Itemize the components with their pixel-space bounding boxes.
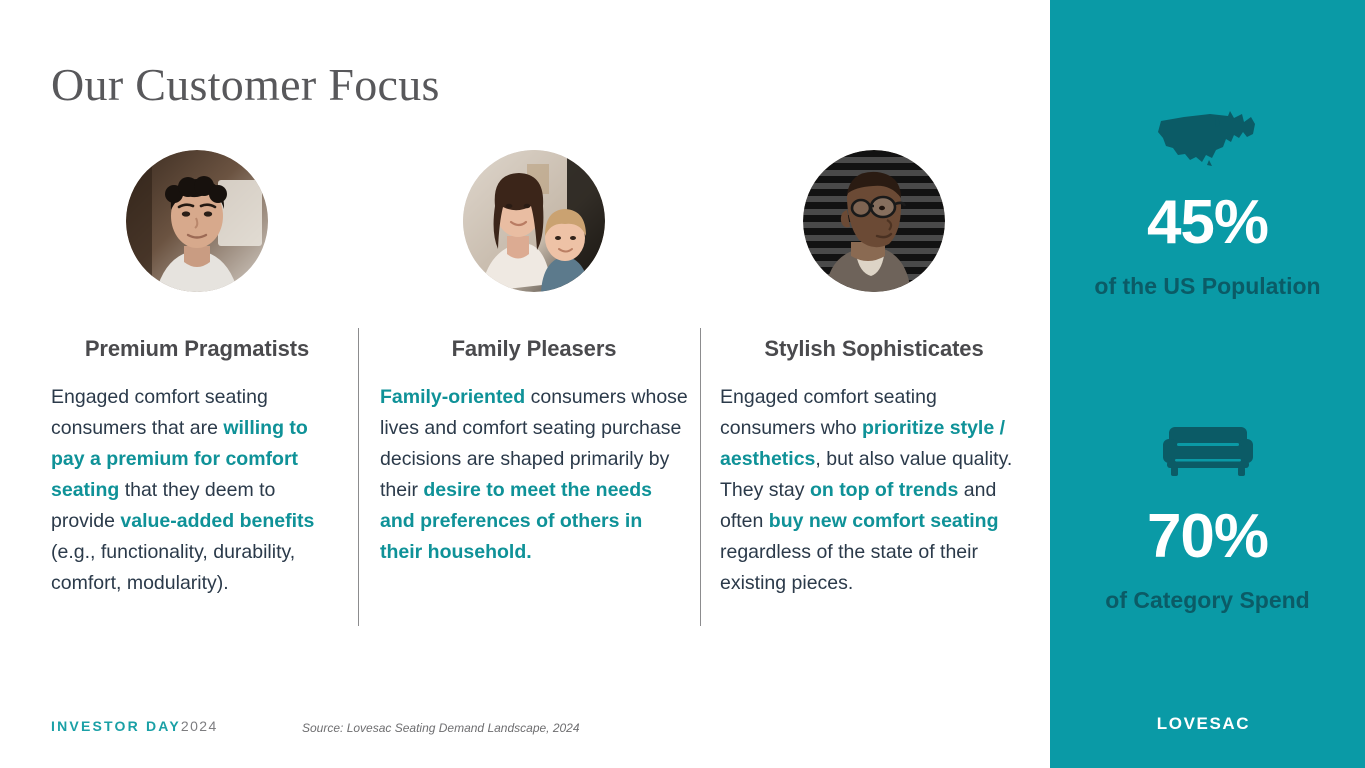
portrait-young-man [126,150,268,292]
footer-investor-day: INVESTOR DAY2024 [51,718,218,734]
footer-investor-day-label: INVESTOR DAY [51,718,181,734]
column-divider [700,328,701,626]
portrait-wrapper [720,150,1028,292]
us-map-icon [1050,100,1365,178]
stat-caption: of Category Spend [1050,584,1365,617]
persona-column-family-pleasers: Family Pleasers Family-oriented consumer… [380,150,688,568]
portrait-man-with-glasses [803,150,945,292]
stats-panel: 45% of the US Population 70% of Category [1050,0,1365,768]
footer-source-note: Source: Lovesac Seating Demand Landscape… [302,721,580,735]
column-divider [358,328,359,626]
persona-heading: Stylish Sophisticates [720,336,1028,361]
persona-heading: Family Pleasers [380,336,688,361]
page-title: Our Customer Focus [51,62,440,108]
stat-value: 45% [1050,192,1365,254]
portrait-wrapper [51,150,343,292]
stat-us-population: 45% of the US Population [1050,100,1365,303]
footer-year: 2024 [181,718,218,734]
sofa-icon [1050,420,1365,482]
persona-body: Engaged comfort seating consumers that a… [51,382,343,599]
stat-caption: of the US Population [1050,270,1365,303]
lovesac-logo: LOVESAC [1050,714,1365,734]
stat-value: 70% [1050,506,1365,568]
portrait-wrapper [380,150,688,292]
persona-body: Engaged comfort seating consumers who pr… [720,382,1028,599]
persona-column-stylish-sophisticates: Stylish Sophisticates Engaged comfort se… [720,150,1028,599]
portrait-mother-and-child [463,150,605,292]
stat-category-spend: 70% of Category Spend [1050,420,1365,617]
persona-heading: Premium Pragmatists [51,336,343,361]
slide-canvas: Our Customer Focus [0,0,1365,768]
persona-body: Family-oriented consumers whose lives an… [380,382,688,568]
persona-column-premium-pragmatists: Premium Pragmatists Engaged comfort seat… [51,150,343,599]
